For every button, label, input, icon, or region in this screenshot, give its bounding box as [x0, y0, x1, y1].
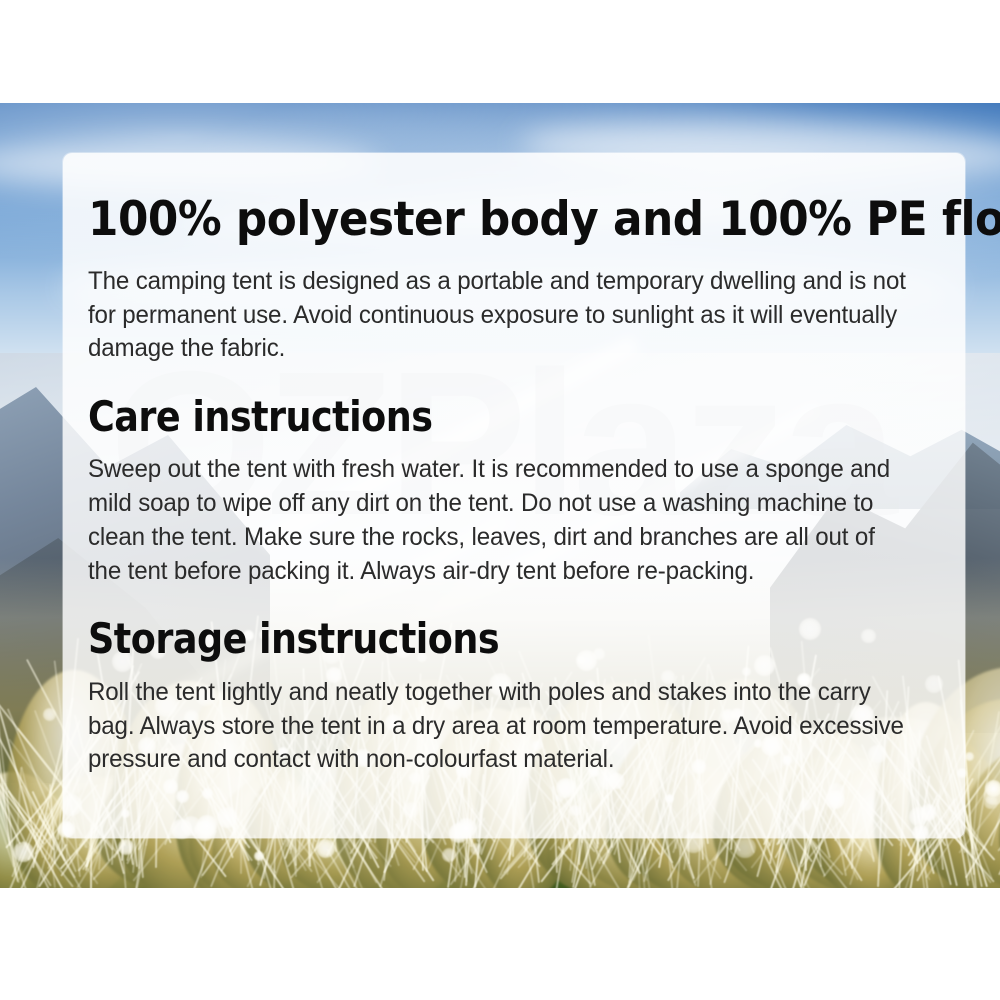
flower-head	[442, 848, 456, 862]
flower-head	[965, 752, 974, 761]
section-body-care: Sweep out the tent with fresh water. It …	[88, 453, 909, 588]
flower-head	[984, 796, 997, 809]
flower-head	[118, 839, 134, 855]
flower-head	[470, 843, 482, 855]
section-heading-storage: Storage instructions	[88, 616, 828, 661]
flower-head	[254, 851, 264, 861]
page-title: 100% polyester body and 100% PE floor	[88, 195, 879, 245]
product-info-image: OZPlaza 100% polyester body and 100% PE …	[0, 0, 1000, 1000]
section-body-storage: Roll the tent lightly and neatly togethe…	[88, 676, 909, 777]
flower-head	[734, 837, 756, 859]
intro-paragraph: The camping tent is designed as a portab…	[88, 265, 909, 366]
flower-head	[13, 842, 33, 862]
flower-head	[985, 780, 1000, 798]
section-heading-care: Care instructions	[88, 394, 828, 439]
flower-head	[43, 708, 56, 721]
info-card: 100% polyester body and 100% PE floor Th…	[63, 153, 965, 838]
